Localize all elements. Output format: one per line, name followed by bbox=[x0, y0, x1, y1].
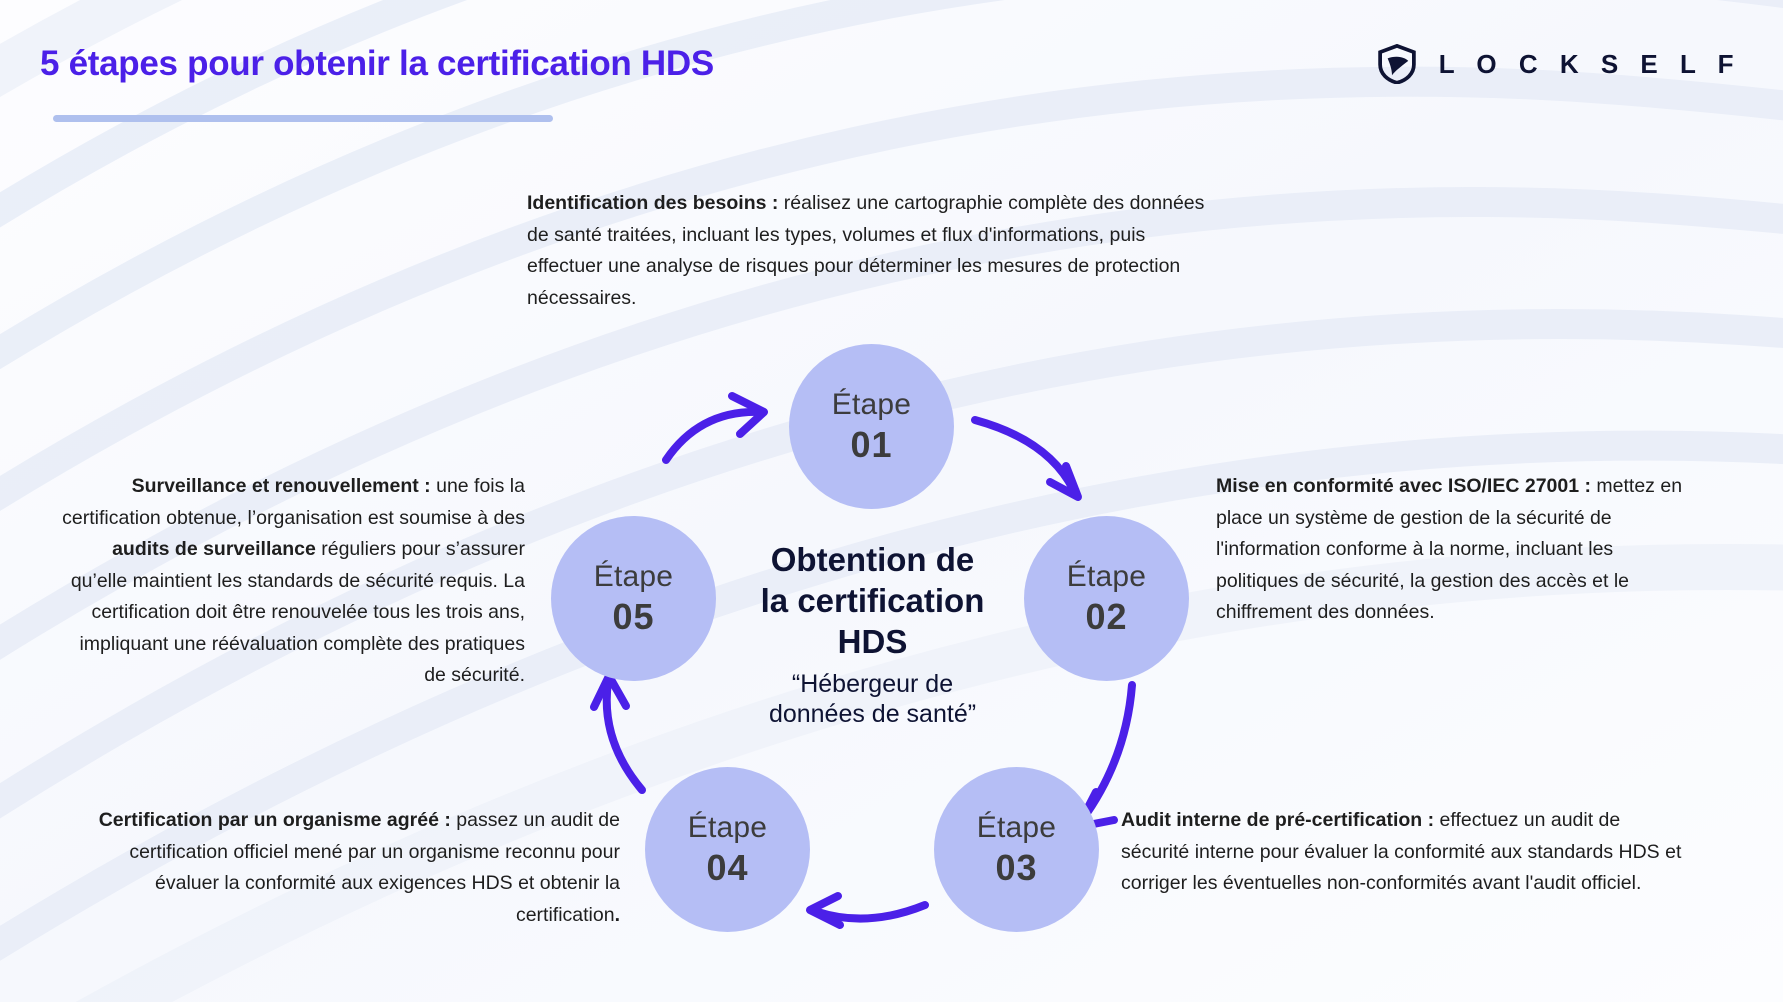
step-node-03-word: Étape bbox=[977, 812, 1056, 844]
step-node-03[interactable]: Étape 03 bbox=[934, 767, 1099, 932]
center-title-line-1: Obtention de bbox=[771, 541, 974, 578]
step-node-01-number: 01 bbox=[850, 426, 892, 464]
caption-step-04-lead: Certification par un organisme agréé : bbox=[99, 809, 457, 831]
center-title: Obtention de la certification HDS bbox=[700, 540, 1045, 663]
step-node-04-number: 04 bbox=[706, 849, 748, 887]
step-node-04[interactable]: Étape 04 bbox=[645, 767, 810, 932]
center-label: Obtention de la certification HDS “Héber… bbox=[700, 540, 1045, 730]
caption-step-05-body-2: réguliers pour s’assurer qu’elle maintie… bbox=[71, 538, 525, 686]
caption-step-02-lead: Mise en conformité avec ISO/IEC 27001 : bbox=[1216, 475, 1596, 497]
caption-step-02-body: mettez en place un système de gestion de… bbox=[1216, 475, 1682, 623]
step-node-01[interactable]: Étape 01 bbox=[789, 344, 954, 509]
caption-step-01-lead: Identification des besoins : bbox=[527, 192, 784, 214]
center-subtitle-line-2: données de santé” bbox=[769, 700, 976, 728]
step-node-02-word: Étape bbox=[1067, 561, 1146, 593]
step-node-02[interactable]: Étape 02 bbox=[1024, 516, 1189, 681]
caption-step-04: Certification par un organisme agréé : p… bbox=[90, 805, 620, 931]
caption-step-02: Mise en conformité avec ISO/IEC 27001 : … bbox=[1216, 471, 1691, 629]
step-node-02-number: 02 bbox=[1085, 598, 1127, 636]
caption-step-03: Audit interne de pré-certification : eff… bbox=[1121, 805, 1691, 900]
caption-step-05-emphasis: audits de surveillance bbox=[112, 538, 316, 560]
center-title-line-3: HDS bbox=[838, 623, 908, 660]
center-subtitle-line-1: “Hébergeur de bbox=[792, 670, 953, 698]
step-node-01-word: Étape bbox=[832, 389, 911, 421]
step-node-05[interactable]: Étape 05 bbox=[551, 516, 716, 681]
brand-logo: L O C K S E L F bbox=[1377, 44, 1741, 84]
shield-logo-icon bbox=[1377, 44, 1417, 84]
caption-step-05-lead: Surveillance et renouvellement : bbox=[132, 475, 437, 497]
infographic-canvas: 5 étapes pour obtenir la certification H… bbox=[0, 0, 1783, 1002]
caption-step-05: Surveillance et renouvellement : une foi… bbox=[55, 471, 525, 692]
center-subtitle: “Hébergeur de données de santé” bbox=[700, 669, 1045, 730]
brand-wordmark: L O C K S E L F bbox=[1439, 49, 1741, 80]
caption-step-04-body-end: . bbox=[615, 904, 620, 926]
center-title-line-2: la certification bbox=[761, 582, 985, 619]
step-node-05-word: Étape bbox=[594, 561, 673, 593]
step-node-03-number: 03 bbox=[995, 849, 1037, 887]
step-node-05-number: 05 bbox=[612, 598, 654, 636]
step-node-04-word: Étape bbox=[688, 812, 767, 844]
page-header: 5 étapes pour obtenir la certification H… bbox=[0, 0, 1783, 140]
title-underline-rule bbox=[53, 115, 553, 122]
caption-step-01: Identification des besoins : réalisez un… bbox=[527, 188, 1209, 314]
page-title: 5 étapes pour obtenir la certification H… bbox=[40, 44, 714, 84]
caption-step-03-lead: Audit interne de pré-certification : bbox=[1121, 809, 1440, 831]
